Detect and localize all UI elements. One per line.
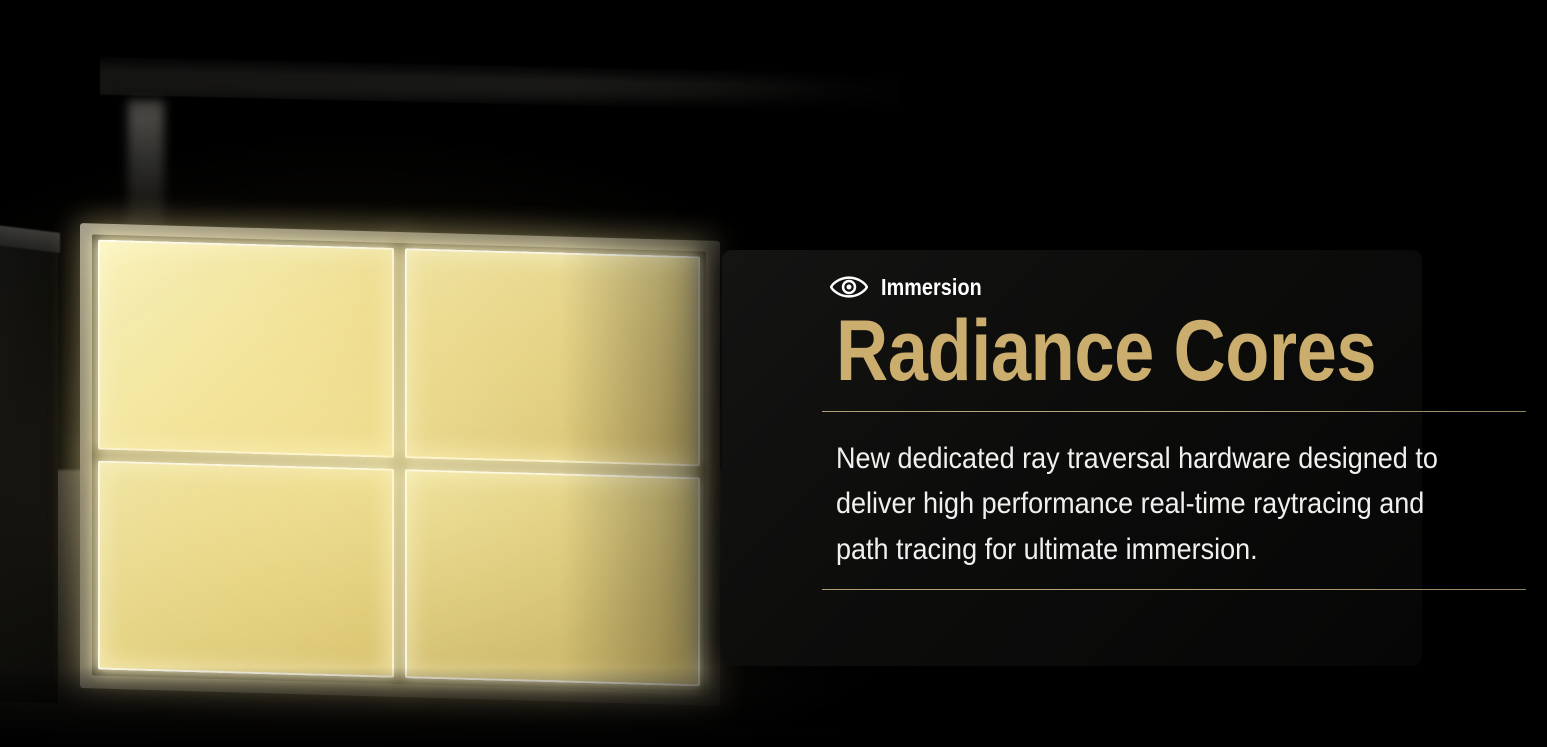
- adjacent-package-block: [0, 231, 58, 704]
- divider-top: [822, 411, 1526, 412]
- eye-icon: [830, 276, 868, 298]
- eyebrow-row: Immersion: [830, 272, 1526, 302]
- quadrant-top-right: [405, 248, 701, 466]
- feature-description: New dedicated ray traversal hardware des…: [836, 436, 1457, 574]
- page-title: Radiance Cores: [836, 310, 1416, 393]
- divider-bottom: [822, 589, 1526, 590]
- die-quadrant-grid: [98, 240, 700, 687]
- feature-copy-block: Immersion Radiance Cores New dedicated r…: [822, 272, 1526, 590]
- slide-root: Immersion Radiance Cores New dedicated r…: [0, 0, 1547, 747]
- quadrant-bottom-right: [405, 469, 701, 687]
- eyebrow-label: Immersion: [881, 274, 982, 301]
- description-line-3: path tracing for ultimate immersion.: [836, 527, 1457, 573]
- description-line-1: New dedicated ray traversal hardware des…: [836, 436, 1457, 482]
- quadrant-bottom-left: [98, 460, 394, 678]
- quadrant-top-left: [98, 240, 394, 458]
- description-line-2: deliver high performance real-time raytr…: [836, 481, 1457, 527]
